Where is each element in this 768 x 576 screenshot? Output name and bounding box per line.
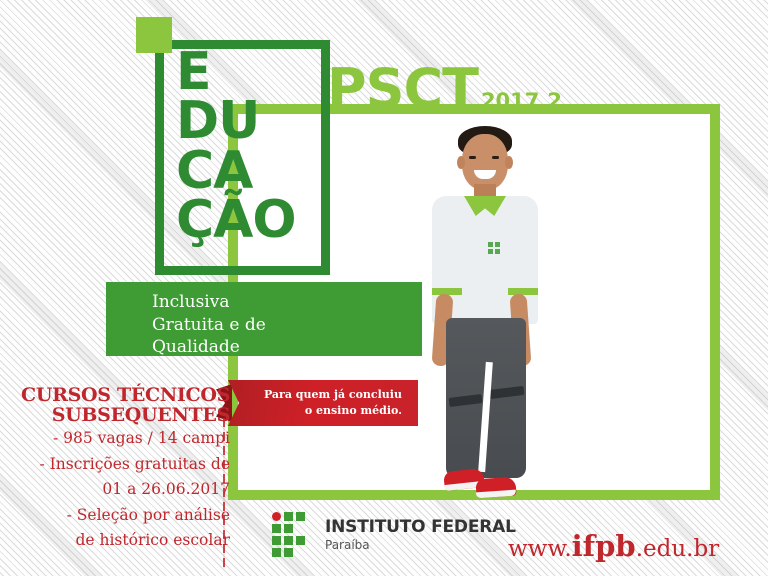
url-brand: ifpb (572, 529, 636, 563)
photo-sole-right (476, 490, 516, 499)
campaign-year: 2017.2 (481, 91, 562, 112)
photo-eye-left (469, 156, 476, 159)
photo-eye-right (492, 156, 499, 159)
promotional-poster: PSCT 2017.2 E DU CA ÇÃO Inclusiva Gratui… (0, 0, 768, 576)
ribbon-line-1: Para quem já concluiu (228, 387, 402, 403)
headline-letter-4: ÇÃO (176, 196, 296, 245)
photo-ear-right (505, 156, 513, 169)
headline-letter-1: E (176, 48, 296, 97)
ifpb-logo-mark-icon (272, 512, 316, 558)
ifpb-logo-line-2: Paraíba (325, 539, 516, 551)
frame-corner-accent (136, 17, 172, 53)
course-details: CURSOS TÉCNICOS SUBSEQUENTES - 985 vagas… (18, 385, 230, 553)
tagline-line-3: Qualidade (152, 336, 422, 359)
ifpb-logo: INSTITUTO FEDERAL Paraíba (272, 512, 516, 558)
tagline-line-1: Inclusiva (152, 291, 422, 314)
photo-head (462, 134, 508, 190)
photo-ear-left (457, 156, 465, 169)
ribbon-banner: Para quem já concluiu o ensino médio. (228, 380, 418, 426)
ribbon-line-2: o ensino médio. (228, 403, 402, 419)
course-bullet-2: - Inscrições gratuitas de (18, 453, 230, 477)
url-suffix: .edu.br (636, 536, 720, 562)
course-heading-line-2: SUBSEQUENTES (18, 405, 230, 425)
course-heading-line-1: CURSOS TÉCNICOS (18, 385, 230, 405)
ifpb-logo-line-1: INSTITUTO FEDERAL (325, 519, 516, 536)
ribbon-text: Para quem já concluiu o ensino médio. (228, 380, 418, 419)
url-prefix: www. (508, 536, 572, 562)
campaign-lockup: PSCT 2017.2 (327, 62, 562, 116)
website-url[interactable]: www.ifpb.edu.br (508, 529, 719, 563)
campaign-name: PSCT (327, 62, 478, 116)
course-bullet-5: de histórico escolar (18, 529, 230, 553)
tagline-line-2: Gratuita e de (152, 314, 422, 337)
course-bullet-4: - Seleção por análise (18, 504, 230, 528)
course-bullet-1: - 985 vagas / 14 campi (18, 427, 230, 451)
photo-sleeve-right (508, 288, 538, 295)
ifpb-logo-text: INSTITUTO FEDERAL Paraíba (325, 519, 516, 551)
headline-letter-3: CA (176, 147, 296, 196)
course-bullet-3: 01 a 26.06.2017 (18, 478, 230, 502)
headline-letter-2: DU (176, 97, 296, 146)
tagline-banner: Inclusiva Gratuita e de Qualidade (106, 282, 422, 356)
headline-educacao: E DU CA ÇÃO (176, 48, 296, 246)
photo-chest-logo (488, 242, 504, 258)
